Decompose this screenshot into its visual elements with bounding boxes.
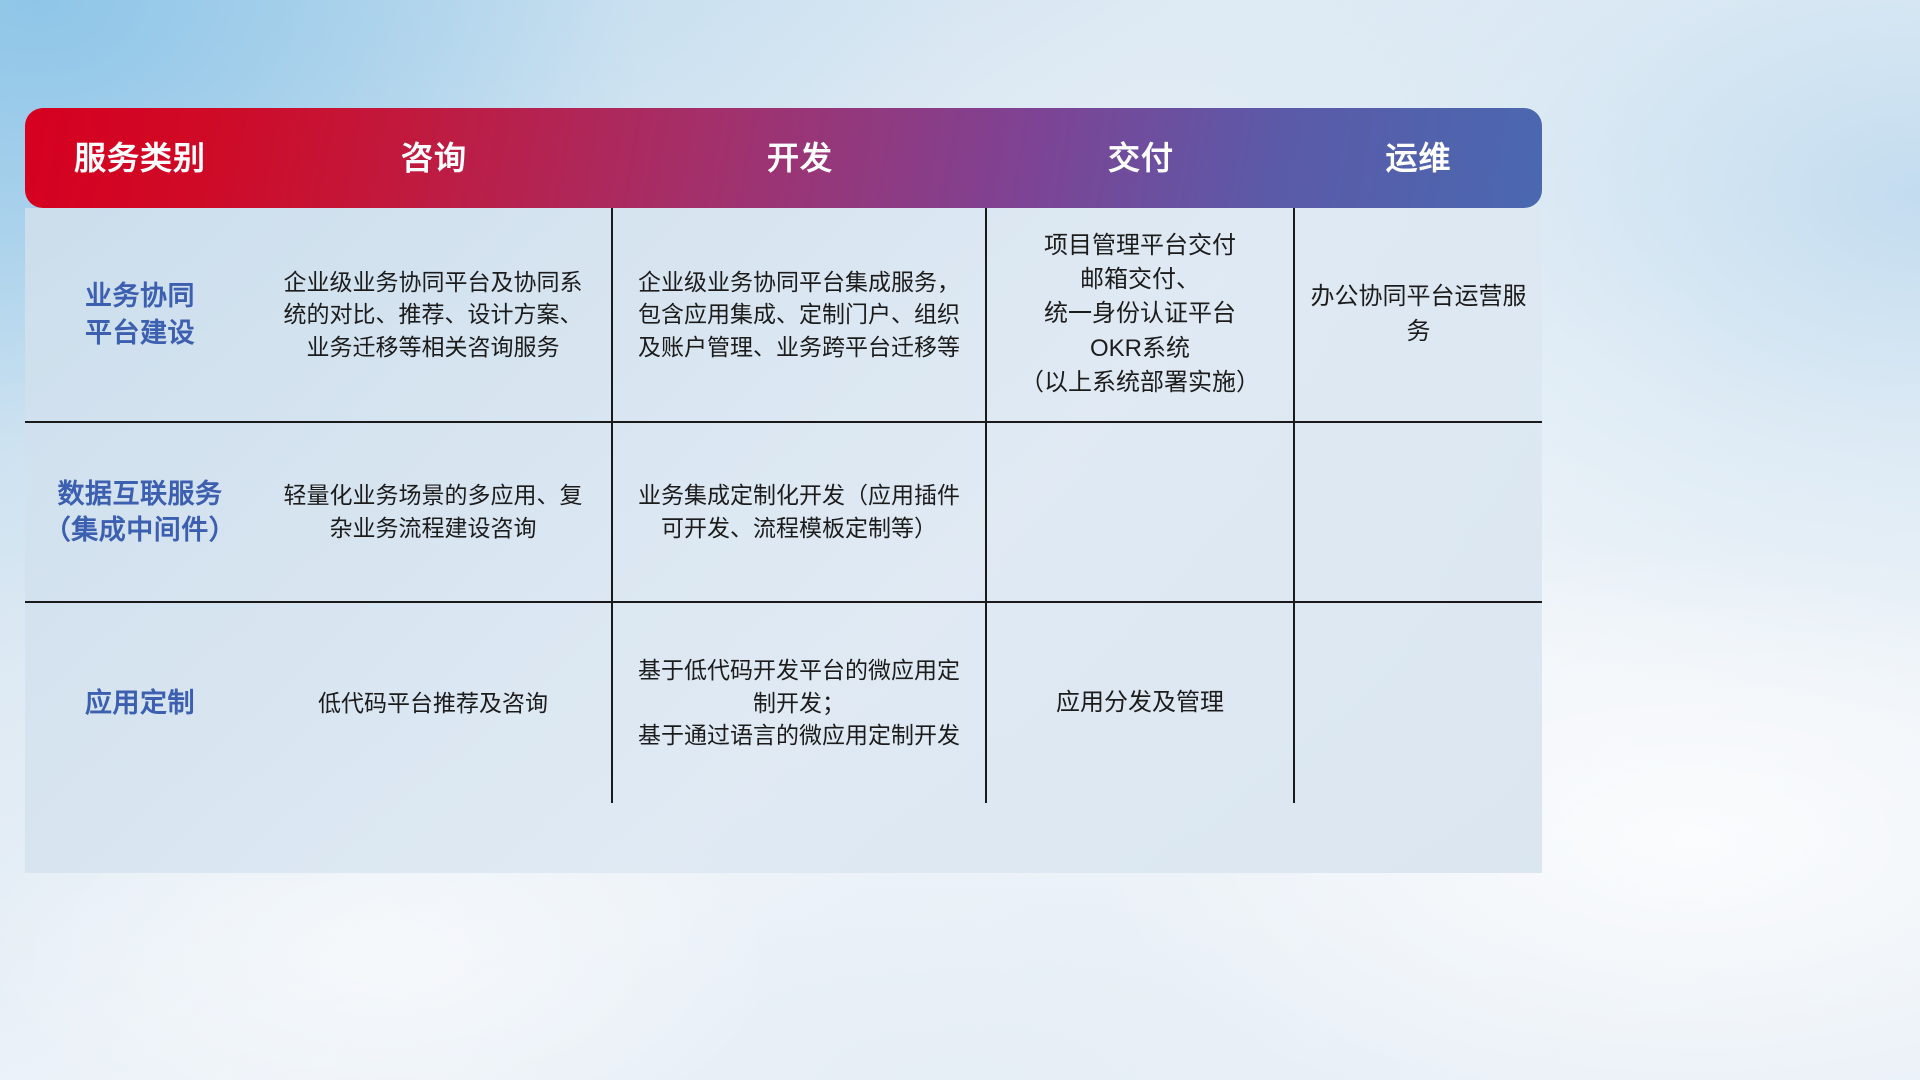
- table-row: 应用定制 低代码平台推荐及咨询 基于低代码开发平台的微应用定 制开发； 基于通过…: [25, 603, 1542, 803]
- cell-text: 轻量化业务场景的多应用、复 杂业务流程建设咨询: [284, 479, 583, 544]
- category-label: 业务协同 平台建设: [85, 278, 195, 351]
- cell-delivery: 应用分发及管理: [987, 603, 1295, 803]
- cell-text: 应用分发及管理: [1056, 686, 1224, 720]
- cell-development: 基于低代码开发平台的微应用定 制开发； 基于通过语言的微应用定制开发: [613, 603, 987, 803]
- category-label: 数据互联服务 （集成中间件）: [44, 476, 237, 549]
- cell-text: 低代码平台推荐及咨询: [318, 687, 548, 720]
- cell-text: 基于低代码开发平台的微应用定 制开发； 基于通过语言的微应用定制开发: [638, 654, 960, 752]
- cell-consulting: 企业级业务协同平台及协同系 统的对比、推荐、设计方案、 业务迁移等相关咨询服务: [255, 208, 613, 421]
- cell-text: 项目管理平台交付 邮箱交付、 统一身份认证平台 OKR系统 （以上系统部署实施）: [1020, 229, 1260, 399]
- column-header-category: 服务类别: [25, 108, 255, 208]
- cell-development: 业务集成定制化开发（应用插件 可开发、流程模板定制等）: [613, 423, 987, 601]
- cell-text: 企业级业务协同平台集成服务， 包含应用集成、定制门户、组织 及账户管理、业务跨平…: [638, 266, 960, 364]
- cell-delivery: [987, 423, 1295, 601]
- cell-consulting: 低代码平台推荐及咨询: [255, 603, 613, 803]
- row-category-cell: 数据互联服务 （集成中间件）: [25, 423, 255, 601]
- table-body: 业务协同 平台建设 企业级业务协同平台及协同系 统的对比、推荐、设计方案、 业务…: [25, 208, 1542, 873]
- column-header-operations: 运维: [1295, 108, 1542, 208]
- cell-delivery: 项目管理平台交付 邮箱交付、 统一身份认证平台 OKR系统 （以上系统部署实施）: [987, 208, 1295, 421]
- row-category-cell: 应用定制: [25, 603, 255, 803]
- cell-consulting: 轻量化业务场景的多应用、复 杂业务流程建设咨询: [255, 423, 613, 601]
- cell-operations: 办公协同平台运营服务: [1295, 208, 1542, 421]
- table-row: 业务协同 平台建设 企业级业务协同平台及协同系 统的对比、推荐、设计方案、 业务…: [25, 208, 1542, 423]
- column-header-development: 开发: [613, 108, 987, 208]
- category-label: 应用定制: [85, 685, 195, 721]
- row-category-cell: 业务协同 平台建设: [25, 208, 255, 421]
- table-header-row: 服务类别 咨询 开发 交付 运维: [25, 108, 1542, 208]
- cell-text: 业务集成定制化开发（应用插件 可开发、流程模板定制等）: [638, 479, 960, 544]
- column-header-delivery: 交付: [987, 108, 1295, 208]
- cell-text: 办公协同平台运营服务: [1307, 280, 1530, 348]
- table-row: 数据互联服务 （集成中间件） 轻量化业务场景的多应用、复 杂业务流程建设咨询 业…: [25, 423, 1542, 603]
- cell-text: 企业级业务协同平台及协同系 统的对比、推荐、设计方案、 业务迁移等相关咨询服务: [284, 266, 583, 364]
- cell-operations: [1295, 423, 1542, 601]
- column-header-consulting: 咨询: [255, 108, 613, 208]
- cell-development: 企业级业务协同平台集成服务， 包含应用集成、定制门户、组织 及账户管理、业务跨平…: [613, 208, 987, 421]
- cell-operations: [1295, 603, 1542, 803]
- service-matrix-table: 服务类别 咨询 开发 交付 运维 业务协同 平台建设 企业级业务协同平台及协同系…: [25, 108, 1542, 953]
